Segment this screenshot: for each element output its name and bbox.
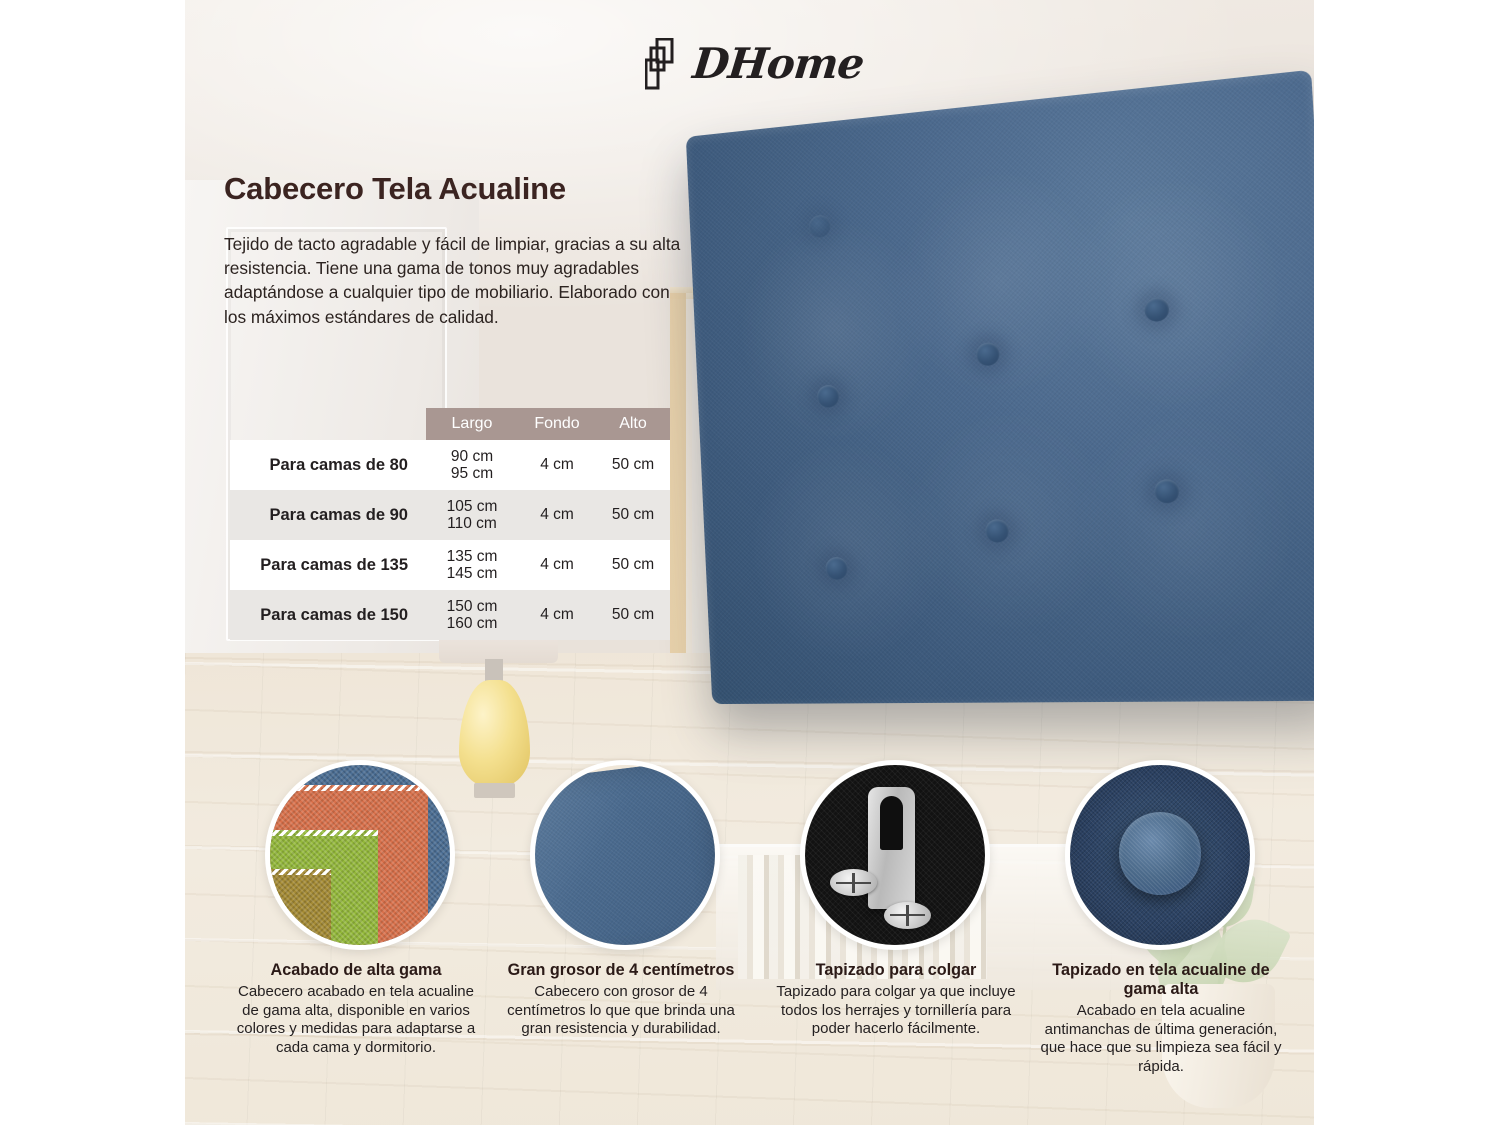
feature-heading: Tapizado en tela acualine de gama alta	[1037, 961, 1285, 999]
dimensions-table: Largo Fondo Alto Para camas de 80 90 cm9…	[230, 408, 670, 640]
row-fondo: 4 cm	[518, 606, 596, 624]
upholstery-button	[1119, 812, 1202, 895]
row-label: Para camas de 135	[230, 556, 426, 575]
feature-body: Cabecero acabado en tela acualine de gam…	[232, 983, 480, 1057]
infographic-canvas: DHome Cabecero Tela Acualine Tejido de t…	[0, 0, 1500, 1125]
row-fondo: 4 cm	[518, 556, 596, 574]
feature-heading: Gran grosor de 4 centímetros	[497, 961, 745, 980]
table-header-alto: Alto	[596, 415, 670, 433]
row-label: Para camas de 90	[230, 506, 426, 525]
row-fondo: 4 cm	[518, 506, 596, 524]
feature-body: Cabecero con grosor de 4 centímetros lo …	[497, 983, 745, 1039]
keyhole-slot	[880, 796, 902, 850]
table-header-largo: Largo	[426, 415, 518, 433]
table-header-fondo: Fondo	[518, 415, 596, 433]
feature-image-fabric-swatches	[265, 760, 455, 950]
zigzag-edge	[265, 869, 331, 875]
feature-caption: Tapizado en tela acualine de gama alta A…	[1037, 961, 1285, 1077]
feature-caption: Acabado de alta gama Cabecero acabado en…	[232, 961, 480, 1057]
zigzag-edge	[265, 830, 378, 836]
hanging-bracket-icon	[868, 787, 915, 909]
feature-image-thickness	[530, 760, 720, 950]
row-label: Para camas de 150	[230, 606, 426, 625]
headboard-tufting	[686, 70, 1314, 704]
feature-caption: Gran grosor de 4 centímetros Cabecero co…	[497, 961, 745, 1039]
brand-logo: DHome	[645, 33, 885, 95]
feature-body: Acabado en tela acualine antimanchas de …	[1037, 1002, 1285, 1076]
table-row: Para camas de 150 150 cm160 cm 4 cm 50 c…	[230, 590, 670, 640]
tufting-button	[1153, 478, 1179, 503]
row-largo: 105 cm110 cm	[426, 498, 518, 533]
row-alto: 50 cm	[596, 506, 670, 524]
page-title: Cabecero Tela Acualine	[224, 171, 694, 207]
lamp-base	[474, 783, 515, 798]
table-header-row: Largo Fondo Alto	[426, 408, 670, 440]
row-label: Para camas de 80	[230, 456, 426, 475]
row-largo: 135 cm145 cm	[426, 548, 518, 583]
table-row: Para camas de 135 135 cm145 cm 4 cm 50 c…	[230, 540, 670, 590]
feature-caption: Tapizado para colgar Tapizado para colga…	[772, 961, 1020, 1039]
row-largo: 150 cm160 cm	[426, 598, 518, 633]
row-alto: 50 cm	[596, 456, 670, 474]
headboard-product-photo	[686, 70, 1314, 704]
headboard-corner	[530, 760, 720, 950]
feature-heading: Acabado de alta gama	[232, 961, 480, 980]
layered-squares-icon	[645, 38, 683, 90]
row-fondo: 4 cm	[518, 456, 596, 474]
row-alto: 50 cm	[596, 556, 670, 574]
row-alto: 50 cm	[596, 606, 670, 624]
table-row: Para camas de 80 90 cm95 cm 4 cm 50 cm	[230, 440, 670, 490]
feature-heading: Tapizado para colgar	[772, 961, 1020, 980]
feature-body: Tapizado para colgar ya que incluye todo…	[772, 983, 1020, 1039]
feature-image-button	[1065, 760, 1255, 950]
row-largo: 90 cm95 cm	[426, 448, 518, 483]
phillips-screw	[884, 902, 931, 929]
table-row: Para camas de 90 105 cm110 cm 4 cm 50 cm	[230, 490, 670, 540]
swatch-olive	[265, 869, 331, 945]
brand-name: DHome	[691, 43, 866, 85]
product-description: Tejido de tacto agradable y fácil de lim…	[224, 232, 684, 329]
zigzag-edge	[265, 785, 428, 791]
feature-image-bracket	[800, 760, 990, 950]
